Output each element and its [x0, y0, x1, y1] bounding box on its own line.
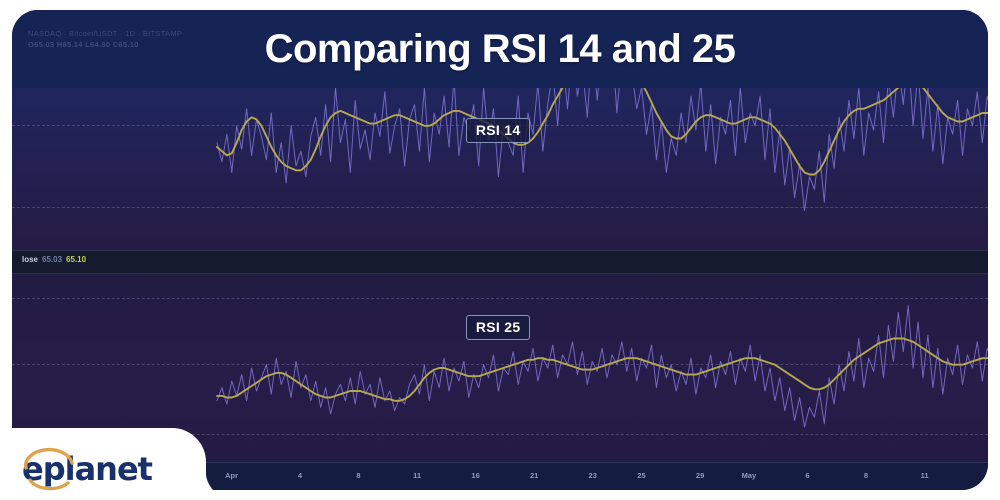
brand-name: eplanet — [22, 452, 152, 486]
ohlc-readout: lose65.0365.10 — [22, 255, 86, 265]
x-axis-tick: 11 — [921, 471, 929, 480]
x-axis-tick: 8 — [356, 471, 360, 480]
brand-logo[interactable]: eplanet — [22, 452, 152, 486]
ohlc-current-value: 65.10 — [66, 255, 86, 264]
ohlc-label: lose — [22, 255, 38, 264]
smoothed-rsi-line — [217, 339, 988, 401]
ohlc-previous-value: 65.03 — [42, 255, 62, 264]
x-axis-tick: 21 — [530, 471, 538, 480]
legend-rsi-25[interactable]: RSI 25 — [466, 315, 531, 340]
chart-card: Apr48111621232529May6811 lose65.0365.10 … — [12, 10, 988, 490]
x-axis-tick: 25 — [637, 471, 645, 480]
x-axis-tick: 16 — [471, 471, 479, 480]
x-axis-tick: 23 — [589, 471, 597, 480]
x-axis-tick: 8 — [864, 471, 868, 480]
page-title: Comparing RSI 14 and 25 — [12, 10, 988, 88]
screenshot-root: Apr48111621232529May6811 lose65.0365.10 … — [0, 0, 1000, 500]
legend-rsi-14[interactable]: RSI 14 — [466, 118, 531, 143]
x-axis-tick: 11 — [413, 471, 421, 480]
x-axis-tick: 29 — [696, 471, 704, 480]
x-axis-tick: May — [742, 471, 757, 480]
x-axis-tick: 4 — [298, 471, 302, 480]
x-axis-tick: 6 — [805, 471, 809, 480]
panel-separator — [12, 250, 988, 274]
